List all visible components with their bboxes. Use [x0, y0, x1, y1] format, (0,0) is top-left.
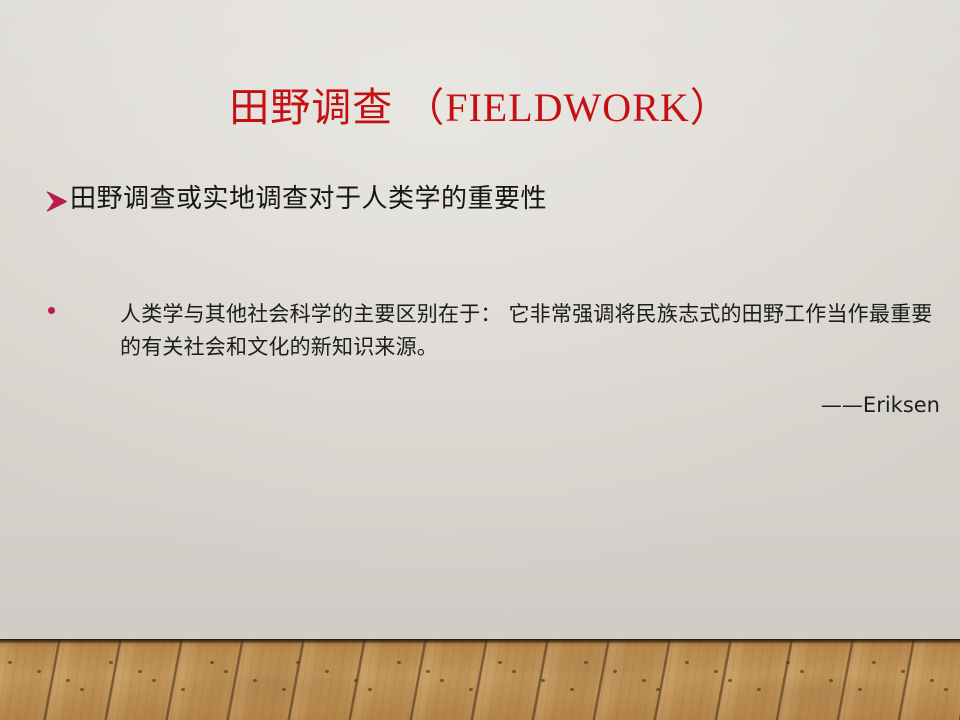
bullet-level1: 田野调查或实地调查对于人类学的重要性 — [44, 183, 924, 215]
bullet-level2: 人类学与其他社会科学的主要区别在于： 它非常强调将民族志式的田野工作当作最重要的… — [44, 298, 934, 364]
wooden-floor-image — [0, 639, 960, 720]
floor-planks — [0, 639, 960, 720]
bullet-level1-label: 田野调查或实地调查对于人类学的重要性 — [70, 183, 547, 215]
slide-canvas: 田野调查 （FIELDWORK） 田野调查或实地调查对于人类学的重要性 人类学与… — [0, 0, 960, 720]
floor-top-edge — [0, 639, 960, 643]
round-bullet-icon — [44, 307, 120, 314]
page-title: 田野调查 （FIELDWORK） — [0, 84, 960, 132]
bullet-level2-label: 人类学与其他社会科学的主要区别在于： 它非常强调将民族志式的田野工作当作最重要的… — [120, 298, 934, 364]
arrow-bullet-icon — [44, 187, 70, 217]
attribution-label: ——Eriksen — [0, 390, 940, 420]
